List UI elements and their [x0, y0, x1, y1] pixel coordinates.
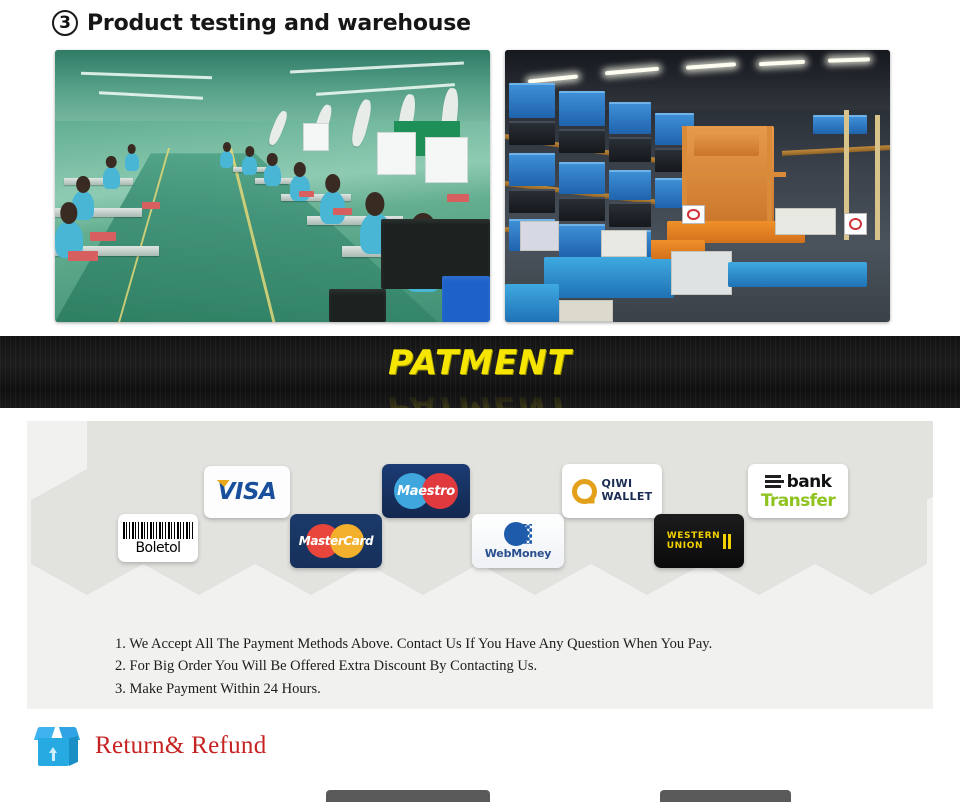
storage-bin — [509, 83, 555, 118]
payment-logo-qiwi-label-line1: QIWI — [602, 477, 633, 490]
storage-bin — [609, 202, 651, 226]
photo-factory-assembly-line — [55, 50, 490, 322]
wall-panel — [425, 137, 469, 183]
bank-speed-lines-icon — [765, 475, 784, 488]
worker — [125, 153, 139, 171]
workbench — [64, 178, 134, 185]
payment-term-item: 2. For Big Order You Will Be Offered Ext… — [115, 655, 905, 677]
payment-logo-maestro[interactable]: Maestro — [382, 464, 470, 518]
page-title: Product testing and warehouse — [87, 11, 471, 36]
payment-logo-visa[interactable]: VISA — [204, 466, 290, 518]
photo-gallery — [0, 50, 960, 325]
parts-tray — [299, 191, 314, 197]
worker — [264, 164, 281, 186]
photo-warehouse-storage — [505, 50, 890, 322]
warning-sign — [844, 213, 867, 235]
worker — [290, 175, 310, 201]
payment-term-item: 1. We Accept All The Payment Methods Abo… — [115, 633, 905, 655]
warning-sign — [682, 205, 705, 224]
storage-bin — [509, 153, 555, 186]
worker — [242, 156, 257, 175]
payment-logo-mastercard[interactable]: MasterCard — [290, 514, 382, 568]
parts-tray — [447, 194, 469, 202]
storage-bin — [509, 189, 555, 213]
storage-crate — [442, 276, 490, 322]
section-header: 3 Product testing and warehouse — [0, 0, 960, 46]
payment-logo-western-union-label-line1: WESTERN — [667, 531, 721, 541]
payment-logo-qiwi-wallet[interactable]: QIWI WALLET — [562, 464, 662, 518]
storage-bin — [509, 121, 555, 145]
storage-bin — [609, 137, 651, 161]
maestro-circles-icon: Maestro — [390, 472, 462, 510]
blue-table — [728, 262, 867, 286]
storage-bin — [559, 224, 605, 257]
payment-banner-title: PATMENT — [0, 343, 960, 383]
open-box-up-arrow-icon — [36, 725, 78, 767]
western-union-bars-icon — [723, 534, 731, 549]
storage-crate — [329, 289, 386, 322]
forklift-crossbar — [682, 172, 786, 177]
storage-bin — [559, 197, 605, 221]
carton-stack — [559, 300, 613, 322]
parts-tray — [68, 251, 98, 261]
parts-tray — [90, 232, 116, 241]
storage-bin — [609, 102, 651, 135]
table-header-bar — [660, 790, 791, 802]
warehouse-scene — [505, 50, 890, 322]
up-arrow-icon — [49, 747, 57, 761]
storage-bin — [559, 162, 605, 195]
storage-bin — [609, 170, 651, 200]
payment-logo-bank-transfer-label-line2: Transfer — [761, 491, 835, 511]
parts-tray — [142, 202, 160, 209]
payment-logo-boleto-label: Boletol — [135, 541, 180, 555]
mastercard-circles-icon: MasterCard — [298, 523, 374, 559]
qiwi-q-icon — [572, 479, 597, 504]
payment-logo-western-union-label-line2: UNION — [667, 541, 703, 551]
blue-container — [544, 257, 675, 298]
payment-logo-maestro-label: Maestro — [390, 484, 462, 499]
blue-container — [505, 284, 559, 322]
payment-logo-webmoney[interactable]: WebMoney — [472, 514, 564, 568]
payment-logo-bank-transfer-label-line1: bank — [787, 472, 832, 492]
payment-logo-qiwi-label-line2: WALLET — [602, 490, 653, 503]
worker — [220, 151, 233, 168]
storage-bin — [813, 115, 867, 134]
wall-panel — [303, 123, 329, 150]
payment-banner-title-reflection: PATMENT — [0, 388, 960, 408]
payment-logo-mastercard-label: MasterCard — [298, 534, 374, 548]
wall-panel — [377, 132, 416, 176]
payment-logo-bank-transfer[interactable]: bank Transfer — [748, 464, 848, 518]
worker — [103, 167, 120, 189]
forklift-post — [767, 126, 772, 235]
forklift-crate — [694, 132, 759, 156]
parts-tray — [333, 208, 352, 215]
table-header-bar — [326, 790, 490, 802]
factory-scene — [55, 50, 490, 322]
payment-logo-visa-label: VISA — [218, 479, 277, 505]
carton-stack — [520, 221, 559, 251]
webmoney-globe-icon — [504, 522, 532, 546]
section-number-badge: 3 — [52, 10, 78, 36]
return-refund-header: Return& Refund — [36, 722, 267, 770]
payment-logo-western-union[interactable]: WESTERN UNION — [654, 514, 744, 568]
payment-banner: PATMENT PATMENT — [0, 336, 960, 408]
payment-term-item: 3. Make Payment Within 24 Hours. — [115, 678, 905, 700]
rack-post — [875, 115, 880, 240]
payment-logo-boleto[interactable]: Boletol — [118, 514, 198, 562]
payment-terms-list: 1. We Accept All The Payment Methods Abo… — [115, 633, 905, 700]
storage-bin — [559, 91, 605, 126]
storage-bin — [559, 129, 605, 153]
machine-part — [671, 251, 733, 295]
barcode-icon — [123, 522, 193, 539]
return-refund-title: Return& Refund — [95, 732, 267, 760]
packing-box — [601, 230, 647, 257]
payment-logo-webmoney-label: WebMoney — [485, 547, 551, 560]
packing-box — [775, 208, 837, 235]
